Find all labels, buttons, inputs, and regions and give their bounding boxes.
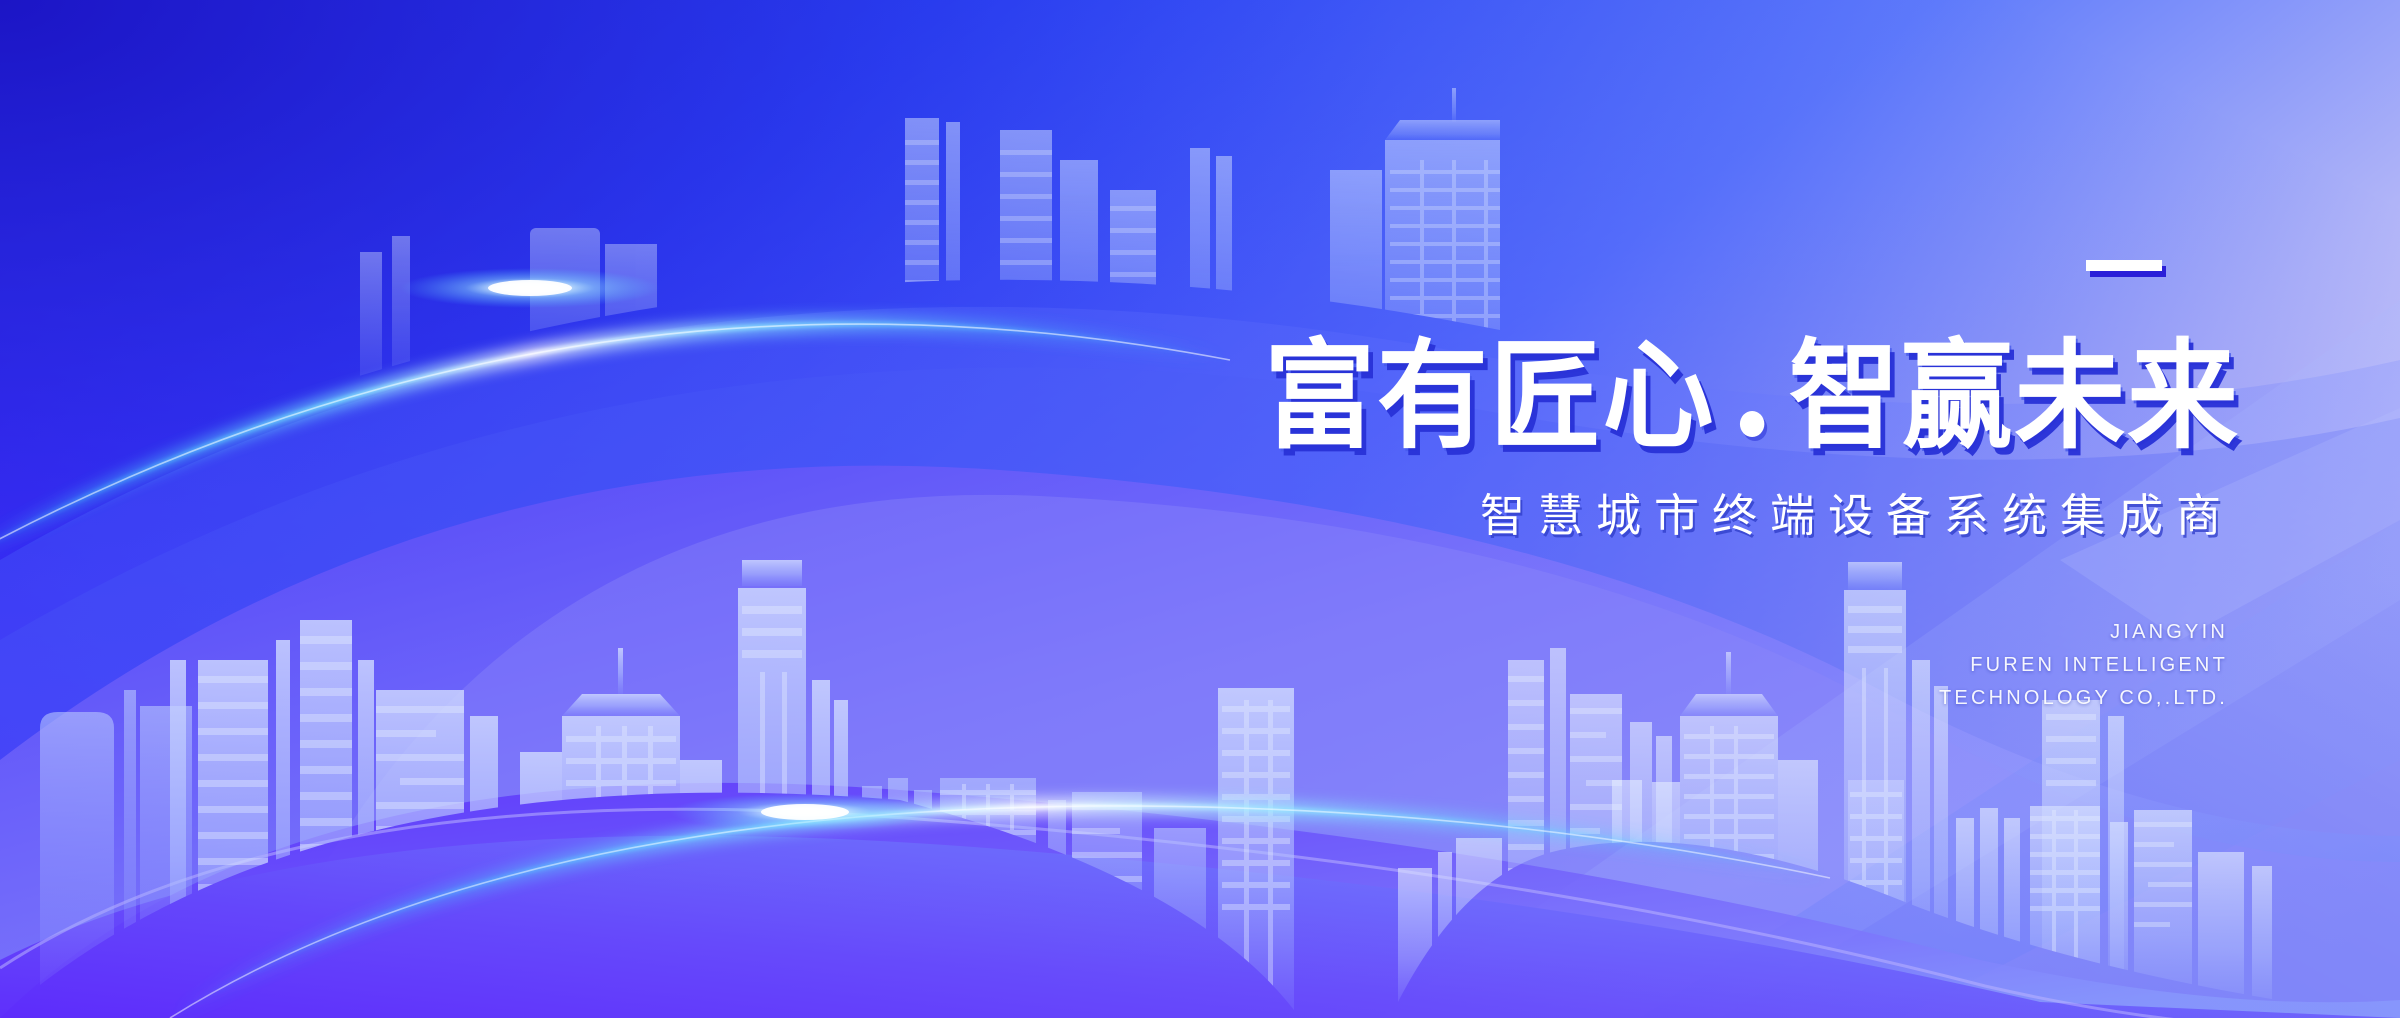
headline-right: 智赢未来 xyxy=(1789,338,2240,456)
company-line-2: FUREN INTELLIGENT xyxy=(1040,649,2228,682)
company-line-1: JIANGYIN xyxy=(1040,616,2228,649)
page-subtitle: 智慧城市终端设备系统集成商 xyxy=(1040,479,2234,544)
page-title: 富有匠心 智赢未来 xyxy=(1112,338,2240,457)
accent-dash-icon xyxy=(2086,260,2162,271)
banner-canvas: 富有匠心 智赢未来 智慧城市终端设备系统集成商 JIANGYIN FUREN I… xyxy=(0,0,2400,1018)
headline-separator-dot xyxy=(1740,411,1764,437)
headline-left: 富有匠心 xyxy=(1264,338,1715,456)
company-name: JIANGYIN FUREN INTELLIGENT TECHNOLOGY CO… xyxy=(1040,616,2228,715)
banner-text-block: 富有匠心 智赢未来 智慧城市终端设备系统集成商 JIANGYIN FUREN I… xyxy=(1040,260,2240,715)
company-line-3: TECHNOLOGY CO,.LTD. xyxy=(1040,682,2228,715)
